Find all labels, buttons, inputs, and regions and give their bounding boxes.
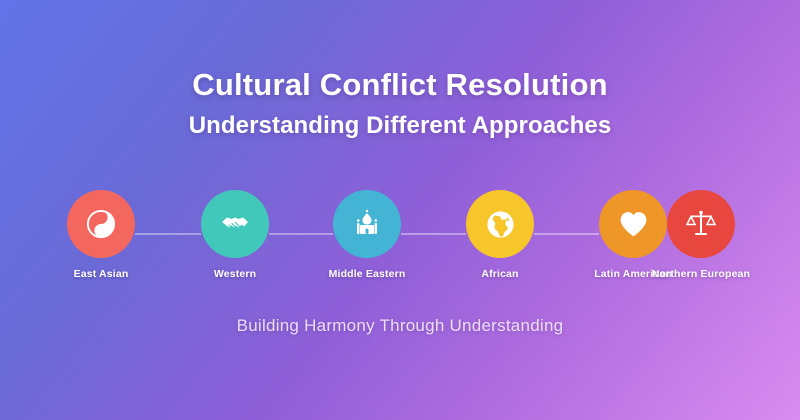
- page-title: Cultural Conflict Resolution: [0, 66, 800, 104]
- node-bubble[interactable]: [667, 190, 735, 258]
- timeline-node[interactable]: African: [466, 190, 534, 258]
- timeline-node[interactable]: Western: [201, 190, 269, 258]
- node-label: East Asian: [74, 268, 129, 280]
- infographic-canvas: Cultural Conflict Resolution Understandi…: [0, 0, 800, 420]
- node-label: African: [481, 268, 518, 280]
- mosque-icon: [351, 208, 383, 240]
- timeline-connector: [401, 233, 466, 235]
- page-subtitle: Understanding Different Approaches: [0, 111, 800, 141]
- yin-yang-icon: [86, 209, 116, 239]
- node-bubble[interactable]: [466, 190, 534, 258]
- heading-block: Cultural Conflict Resolution Understandi…: [0, 66, 800, 141]
- scales-icon: [685, 208, 717, 240]
- node-bubble[interactable]: [599, 190, 667, 258]
- handshake-icon: [219, 208, 251, 240]
- timeline-node[interactable]: Latin American: [599, 190, 667, 258]
- globe-icon: [485, 209, 516, 240]
- timeline-node[interactable]: Middle Eastern: [333, 190, 401, 258]
- node-label: Western: [214, 268, 256, 280]
- node-label: Middle Eastern: [329, 268, 406, 280]
- cultural-approach-timeline: East Asian Western Middle Eastern Africa…: [0, 190, 800, 300]
- heart-icon: [617, 208, 650, 241]
- node-bubble[interactable]: [67, 190, 135, 258]
- node-bubble[interactable]: [333, 190, 401, 258]
- timeline-connector: [135, 233, 201, 235]
- tagline: Building Harmony Through Understanding: [0, 316, 800, 336]
- timeline-node[interactable]: Northern European: [667, 190, 735, 258]
- timeline-connector: [269, 233, 333, 235]
- node-bubble[interactable]: [201, 190, 269, 258]
- node-label: Northern European: [652, 268, 750, 280]
- timeline-connector: [534, 233, 599, 235]
- timeline-node[interactable]: East Asian: [67, 190, 135, 258]
